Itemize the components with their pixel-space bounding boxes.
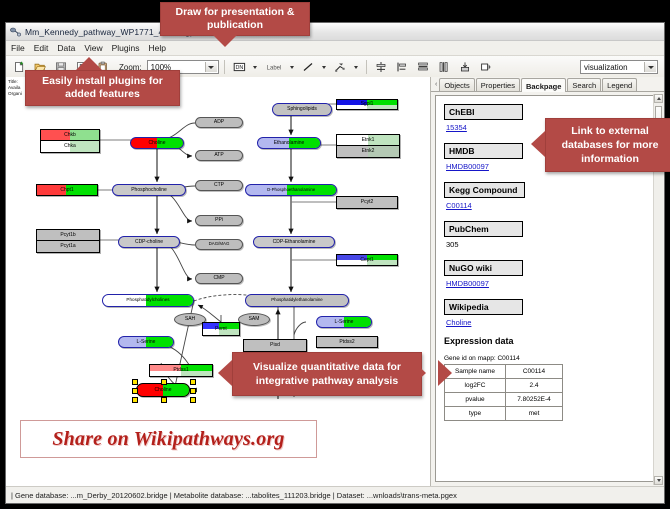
- node-label: Pcyt1a: [60, 244, 75, 249]
- visualization-value: visualization: [584, 63, 628, 72]
- db-heading-hmdb: HMDB: [444, 143, 523, 159]
- node-label: Phosphatidylcholines: [126, 298, 169, 303]
- cell-key: Sample name: [445, 365, 506, 379]
- tab-legend[interactable]: Legend: [602, 78, 637, 91]
- node-phosphocholine[interactable]: Phosphocholine: [112, 184, 186, 196]
- node-sam[interactable]: SAM: [238, 313, 270, 326]
- node-label: L-Serine: [335, 320, 354, 325]
- cell-key: pvalue: [445, 393, 506, 407]
- callout-share: Share on Wikipathways.org: [20, 420, 317, 458]
- callout-plugins-text: Easily install plugins for added feature…: [30, 75, 175, 101]
- callout-links-arrow: [531, 131, 545, 157]
- selection-handle-s[interactable]: [161, 397, 167, 403]
- group-icon[interactable]: [477, 58, 496, 77]
- node-adp[interactable]: ADP: [195, 117, 243, 128]
- selection-handle-e[interactable]: [190, 388, 196, 394]
- gene-ptdss1[interactable]: Ptdss1: [149, 364, 213, 377]
- node-ethanolamine-top[interactable]: Ethanolamine: [257, 137, 321, 149]
- node-cdp-choline[interactable]: CDP-choline: [118, 236, 180, 248]
- node-cmp[interactable]: CMP: [195, 273, 243, 284]
- node-phosphatidylcholines[interactable]: Phosphatidylcholines: [102, 294, 194, 307]
- callout-visualize-arrow-right2: [438, 360, 452, 386]
- node-label: PPi: [215, 218, 223, 223]
- arrow-connector-icon[interactable]: [331, 58, 350, 77]
- node-ppi[interactable]: PPi: [195, 215, 243, 226]
- cell-value: 7.80252E-4: [506, 393, 563, 407]
- node-label: Sgpl1: [361, 102, 374, 107]
- node-phosphatidylethanolamine[interactable]: Phosphatidylethanolamine: [245, 294, 349, 307]
- node-label: Etnk2: [362, 149, 375, 154]
- node-label: Pisd: [270, 343, 280, 348]
- node-label: Choline: [149, 141, 166, 146]
- connector-dropdown-icon[interactable]: [352, 59, 361, 75]
- callout-links: Link to external databases for more info…: [545, 118, 670, 172]
- menubar[interactable]: File Edit Data View Plugins Help: [6, 41, 664, 56]
- selection-handle-nw[interactable]: [132, 379, 138, 385]
- node-label: O-Phosphoethanolamine: [267, 188, 316, 192]
- gene-id-on-mapp: Gene id on mapp: C00114: [444, 355, 647, 362]
- db-link-nugo-wiki[interactable]: HMDB00097: [446, 279, 647, 288]
- node-label: Sphingolipids: [287, 107, 317, 112]
- node-o-phosphoethanolamine[interactable]: O-Phosphoethanolamine: [245, 184, 337, 196]
- scroll-up-icon[interactable]: [654, 94, 663, 103]
- db-link-wikipedia[interactable]: Choline: [446, 318, 647, 327]
- table-row: log2FC 2.4: [445, 379, 563, 393]
- gene-pemt[interactable]: Pemt: [202, 322, 240, 336]
- menu-view[interactable]: View: [84, 43, 102, 53]
- db-link-kegg[interactable]: C00114: [446, 201, 647, 210]
- gene-ptdss2[interactable]: Ptdss2: [316, 336, 378, 348]
- table-row: pvalue 7.80252E-4: [445, 393, 563, 407]
- cell-value: C00114: [506, 365, 563, 379]
- node-ctp[interactable]: CTP: [195, 180, 243, 191]
- gene-pisd[interactable]: Pisd: [243, 339, 307, 352]
- selection-handle-se[interactable]: [190, 397, 196, 403]
- node-label: SAH: [185, 317, 195, 322]
- gene-box-etnk[interactable]: Etnk1 Etnk2: [336, 134, 400, 158]
- node-atp[interactable]: ATP: [195, 150, 243, 161]
- align-center-icon[interactable]: [372, 58, 391, 77]
- gene-chpt1[interactable]: Chpt1: [36, 184, 98, 196]
- node-label: CDP-choline: [135, 240, 163, 245]
- cell-key: type: [445, 407, 506, 421]
- callout-draw: Draw for presentation & publication: [160, 2, 310, 36]
- db-heading-nugo-wiki: NuGO wiki: [444, 260, 523, 276]
- node-label: Phosphatidylethanolamine: [271, 298, 323, 302]
- node-label: Etnk1: [362, 138, 375, 143]
- node-label: ADP: [214, 120, 224, 125]
- tab-search[interactable]: Search: [567, 78, 601, 91]
- selection-handle-ne[interactable]: [190, 379, 196, 385]
- node-label: Pcyt2: [361, 200, 374, 205]
- menu-data[interactable]: Data: [57, 43, 75, 53]
- table-row: Sample name C00114: [445, 365, 563, 379]
- cell-key: log2FC: [445, 379, 506, 393]
- node-label: CMP: [213, 276, 224, 281]
- gene-chkb[interactable]: Chkb: [41, 130, 99, 141]
- gene-box-pcyt1[interactable]: Pcyt1b Pcyt1a: [36, 229, 100, 253]
- node-l-serine-right[interactable]: L-Serine: [316, 316, 372, 328]
- menu-help[interactable]: Help: [149, 43, 166, 53]
- node-choline-top[interactable]: Choline: [130, 137, 184, 149]
- node-label: Ptdss1: [173, 368, 188, 373]
- menu-edit[interactable]: Edit: [34, 43, 49, 53]
- db-heading-pubchem: PubChem: [444, 221, 523, 237]
- node-label: L-Serine: [137, 340, 156, 345]
- node-label: Chpt1: [60, 188, 73, 193]
- menu-plugins[interactable]: Plugins: [112, 43, 140, 53]
- toolbar-separator: [224, 60, 225, 74]
- node-label: Ptdss2: [339, 340, 354, 345]
- expression-data-title: Expression data: [444, 336, 647, 346]
- node-label: Phosphocholine: [131, 188, 167, 193]
- chevron-down-icon[interactable]: [205, 62, 217, 72]
- gene-sgpl1[interactable]: Sgpl1: [336, 99, 398, 110]
- svg-text:DN: DN: [235, 65, 243, 71]
- node-label: Ethanolamine: [274, 141, 305, 146]
- selection-handle-w[interactable]: [132, 388, 138, 394]
- cell-value: met: [506, 407, 563, 421]
- db-heading-kegg: Kegg Compound: [444, 182, 525, 198]
- node-l-serine-left[interactable]: L-Serine: [118, 336, 174, 348]
- callout-share-text: Share on Wikipathways.org: [52, 428, 284, 451]
- callout-visualize-text: Visualize quantitative data for integrat…: [237, 360, 417, 388]
- node-label: Cept1: [360, 258, 373, 263]
- pathvisio-app-icon: [10, 26, 21, 37]
- node-cdp-ethanolamine[interactable]: CDP-Ethanolamine: [253, 236, 335, 248]
- node-dag-mag[interactable]: DAG/MAG: [195, 239, 243, 250]
- gene-pcyt2[interactable]: Pcyt2: [336, 196, 398, 209]
- statusbar: | Gene database: ...m_Derby_20120602.bri…: [6, 486, 664, 503]
- stack-icon[interactable]: [456, 58, 475, 77]
- callout-links-text: Link to external databases for more info…: [550, 124, 670, 166]
- label-tool-icon[interactable]: Label: [262, 58, 286, 77]
- callout-visualize: Visualize quantitative data for integrat…: [232, 352, 422, 396]
- callout-plugins-arrow: [76, 57, 102, 70]
- callout-visualize-arrow-right: [412, 360, 426, 386]
- gene-etnk2[interactable]: Etnk2: [337, 146, 399, 157]
- statusbar-text: | Gene database: ...m_Derby_20120602.bri…: [11, 491, 457, 500]
- label-dropdown-icon[interactable]: [288, 59, 297, 75]
- selection-handle-sw[interactable]: [132, 397, 138, 403]
- node-label: Choline: [155, 388, 172, 393]
- node-label: DAG/MAG: [209, 242, 230, 246]
- datanode-dropdown-icon[interactable]: [251, 59, 260, 75]
- node-choline-selected[interactable]: Choline: [136, 383, 190, 397]
- menu-file[interactable]: File: [11, 43, 25, 53]
- expression-table: Sample name C00114 log2FC 2.4 pvalue 7.8…: [444, 364, 563, 421]
- node-label: Pemt: [215, 327, 227, 332]
- datanode-icon[interactable]: DN: [230, 58, 249, 77]
- callout-visualize-arrow-left: [218, 360, 232, 386]
- tab-properties[interactable]: Properties: [476, 78, 520, 91]
- align-columns-icon[interactable]: [435, 58, 454, 77]
- gene-etnk1[interactable]: Etnk1: [337, 135, 399, 146]
- tab-objects[interactable]: Objects: [439, 78, 474, 91]
- line-dropdown-icon[interactable]: [320, 59, 329, 75]
- toolbar-separator-2: [366, 60, 367, 74]
- db-heading-wikipedia: Wikipedia: [444, 299, 523, 315]
- visualization-chevron-down-icon[interactable]: [644, 62, 656, 72]
- node-label: Pcyt1b: [60, 233, 75, 238]
- tabs-scroll-left-icon[interactable]: ‹: [435, 81, 437, 88]
- window-titlebar: Mm_Kennedy_pathway_WP1771_45176.gpml: [6, 23, 664, 41]
- gene-box-chk[interactable]: Chkb Chka: [40, 129, 100, 153]
- callout-draw-text: Draw for presentation & publication: [165, 6, 305, 32]
- line-tool-icon[interactable]: [299, 58, 318, 77]
- selected-node-wrapper[interactable]: Choline: [136, 383, 190, 397]
- scroll-down-icon[interactable]: [654, 476, 663, 485]
- db-value-pubchem: 305: [446, 240, 647, 249]
- gene-pcyt1a[interactable]: Pcyt1a: [37, 241, 99, 252]
- node-label: Chkb: [64, 133, 76, 138]
- node-label: ATP: [214, 153, 223, 158]
- table-row: type met: [445, 407, 563, 421]
- node-label: SAM: [249, 317, 260, 322]
- visualization-combo[interactable]: visualization: [580, 60, 658, 74]
- screenshot-root: Mm_Kennedy_pathway_WP1771_45176.gpml Fil…: [0, 0, 670, 509]
- selection-handle-n[interactable]: [161, 379, 167, 385]
- db-heading-chebi: ChEBI: [444, 104, 523, 120]
- node-label: CDP-Ethanolamine: [273, 240, 316, 245]
- node-label: CTP: [214, 183, 224, 188]
- callout-draw-arrow: [212, 34, 238, 47]
- gene-cept1[interactable]: Cept1: [336, 254, 398, 266]
- node-sphingolipids[interactable]: Sphingolipids: [272, 103, 332, 116]
- callout-plugins: Easily install plugins for added feature…: [25, 70, 180, 106]
- gene-pcyt1b[interactable]: Pcyt1b: [37, 230, 99, 241]
- align-rows-icon[interactable]: [414, 58, 433, 77]
- gene-chka[interactable]: Chka: [41, 141, 99, 152]
- align-left-icon[interactable]: [393, 58, 412, 77]
- svg-text:Label: Label: [266, 66, 281, 72]
- side-panel-tabs[interactable]: ‹ Objects Properties Backpage Search Leg…: [431, 77, 664, 92]
- node-label: Chka: [64, 144, 76, 149]
- tab-backpage[interactable]: Backpage: [521, 78, 566, 92]
- cell-value: 2.4: [506, 379, 563, 393]
